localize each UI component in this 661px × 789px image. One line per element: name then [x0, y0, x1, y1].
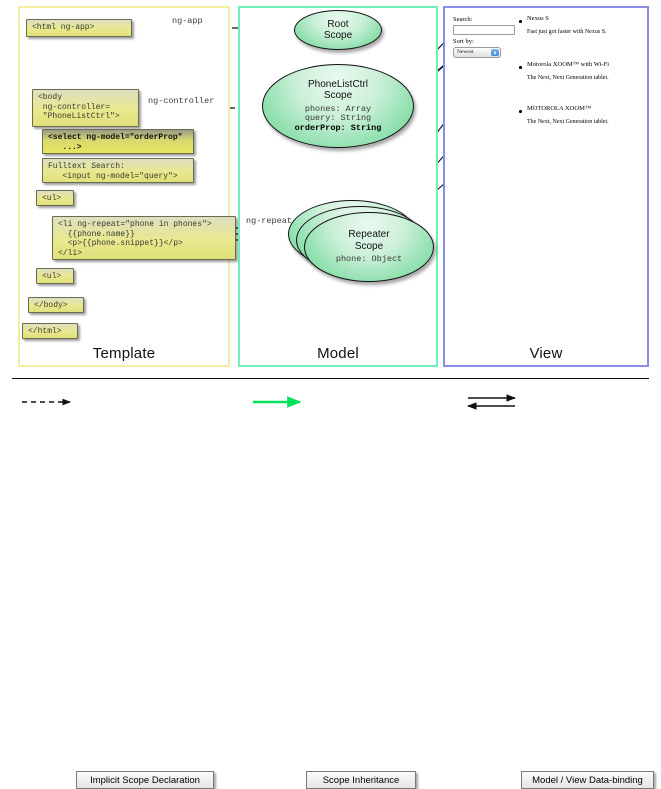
scope-phonelistctrl-title: PhoneListCtrlScope [308, 79, 368, 102]
phone-snippet: The Next, Next Generation tablet. [527, 75, 609, 81]
code-box-input-tag[interactable]: Fulltext Search: <input ng-model="query"… [42, 158, 194, 183]
diagram-canvas: Template <html ng-app> <body ng-controll… [0, 0, 661, 425]
code-box-ul-close-tag[interactable]: <ul> [36, 268, 74, 284]
search-label: Search: [453, 16, 473, 23]
legend-item-scope-inheritance: Scope Inheritance [306, 771, 416, 789]
edge-label-ng-controller: ng-controller [148, 96, 214, 106]
legend: Implicit Scope Declaration Scope Inherit… [0, 378, 661, 425]
search-input[interactable] [453, 25, 515, 35]
legend-item-implicit-scope-declaration: Implicit Scope Declaration [76, 771, 214, 789]
scope-repeater[interactable]: RepeaterScope phone: Object [304, 212, 434, 282]
scope-repeater-title: RepeaterScope [348, 229, 389, 252]
code-box-body-close-tag[interactable]: </body> [28, 297, 84, 313]
phone-name: Motorola XOOM™ with Wi-Fi [527, 61, 609, 68]
legend-divider [12, 378, 649, 379]
view-panel-label: View [445, 345, 647, 362]
legend-item-model-view-data-binding: Model / View Data-binding [521, 771, 654, 789]
list-bullet [519, 110, 522, 113]
sort-select[interactable]: Newest [453, 47, 501, 58]
code-box-html-tag[interactable]: <html ng-app> [26, 19, 132, 37]
sort-label: Sort by: [453, 38, 474, 45]
edge-label-ng-app: ng-app [172, 16, 203, 26]
list-bullet [519, 66, 522, 69]
chevron-updown-icon[interactable] [491, 49, 499, 56]
list-item[interactable]: MOTOROLA XOOM™ The Next, Next Generation… [527, 105, 609, 125]
code-box-li-repeat-tag[interactable]: <li ng-repeat="phone in phones"> {{phone… [52, 216, 236, 260]
code-box-select-tag[interactable]: <select ng-model="orderProp" ...> [42, 129, 194, 154]
code-box-html-close-tag[interactable]: </html> [22, 323, 78, 339]
edge-label-ng-repeat: ng-repeat [246, 216, 292, 226]
phone-name: Nexus S [527, 15, 607, 22]
phone-snippet: The Next, Next Generation tablet. [527, 119, 609, 125]
prop-phone: phone: Object [336, 255, 402, 265]
model-panel-label: Model [240, 345, 436, 362]
list-item[interactable]: Motorola XOOM™ with Wi-Fi The Next, Next… [527, 61, 609, 81]
list-bullet [519, 20, 522, 23]
prop-orderprop: orderProp: String [295, 124, 382, 134]
list-item[interactable]: Nexus S Fast just got faster with Nexus … [527, 15, 607, 35]
scope-phonelistctrl-props: phones: Array query: String orderProp: S… [295, 105, 382, 134]
template-panel-label: Template [20, 345, 228, 362]
scope-phonelistctrl[interactable]: PhoneListCtrlScope phones: Array query: … [262, 64, 414, 148]
code-box-ul-open-tag[interactable]: <ul> [36, 190, 74, 206]
scope-root[interactable]: RootScope [294, 10, 382, 50]
phone-name: MOTOROLA XOOM™ [527, 105, 609, 112]
scope-root-title: RootScope [324, 19, 352, 42]
phone-snippet: Fast just got faster with Nexus S. [527, 29, 607, 35]
model-panel: Model [238, 6, 438, 367]
scope-repeater-props: phone: Object [336, 255, 402, 265]
sort-select-value: Newest [457, 49, 474, 55]
code-box-body-tag[interactable]: <body ng-controller= "PhoneListCtrl"> [32, 89, 139, 127]
